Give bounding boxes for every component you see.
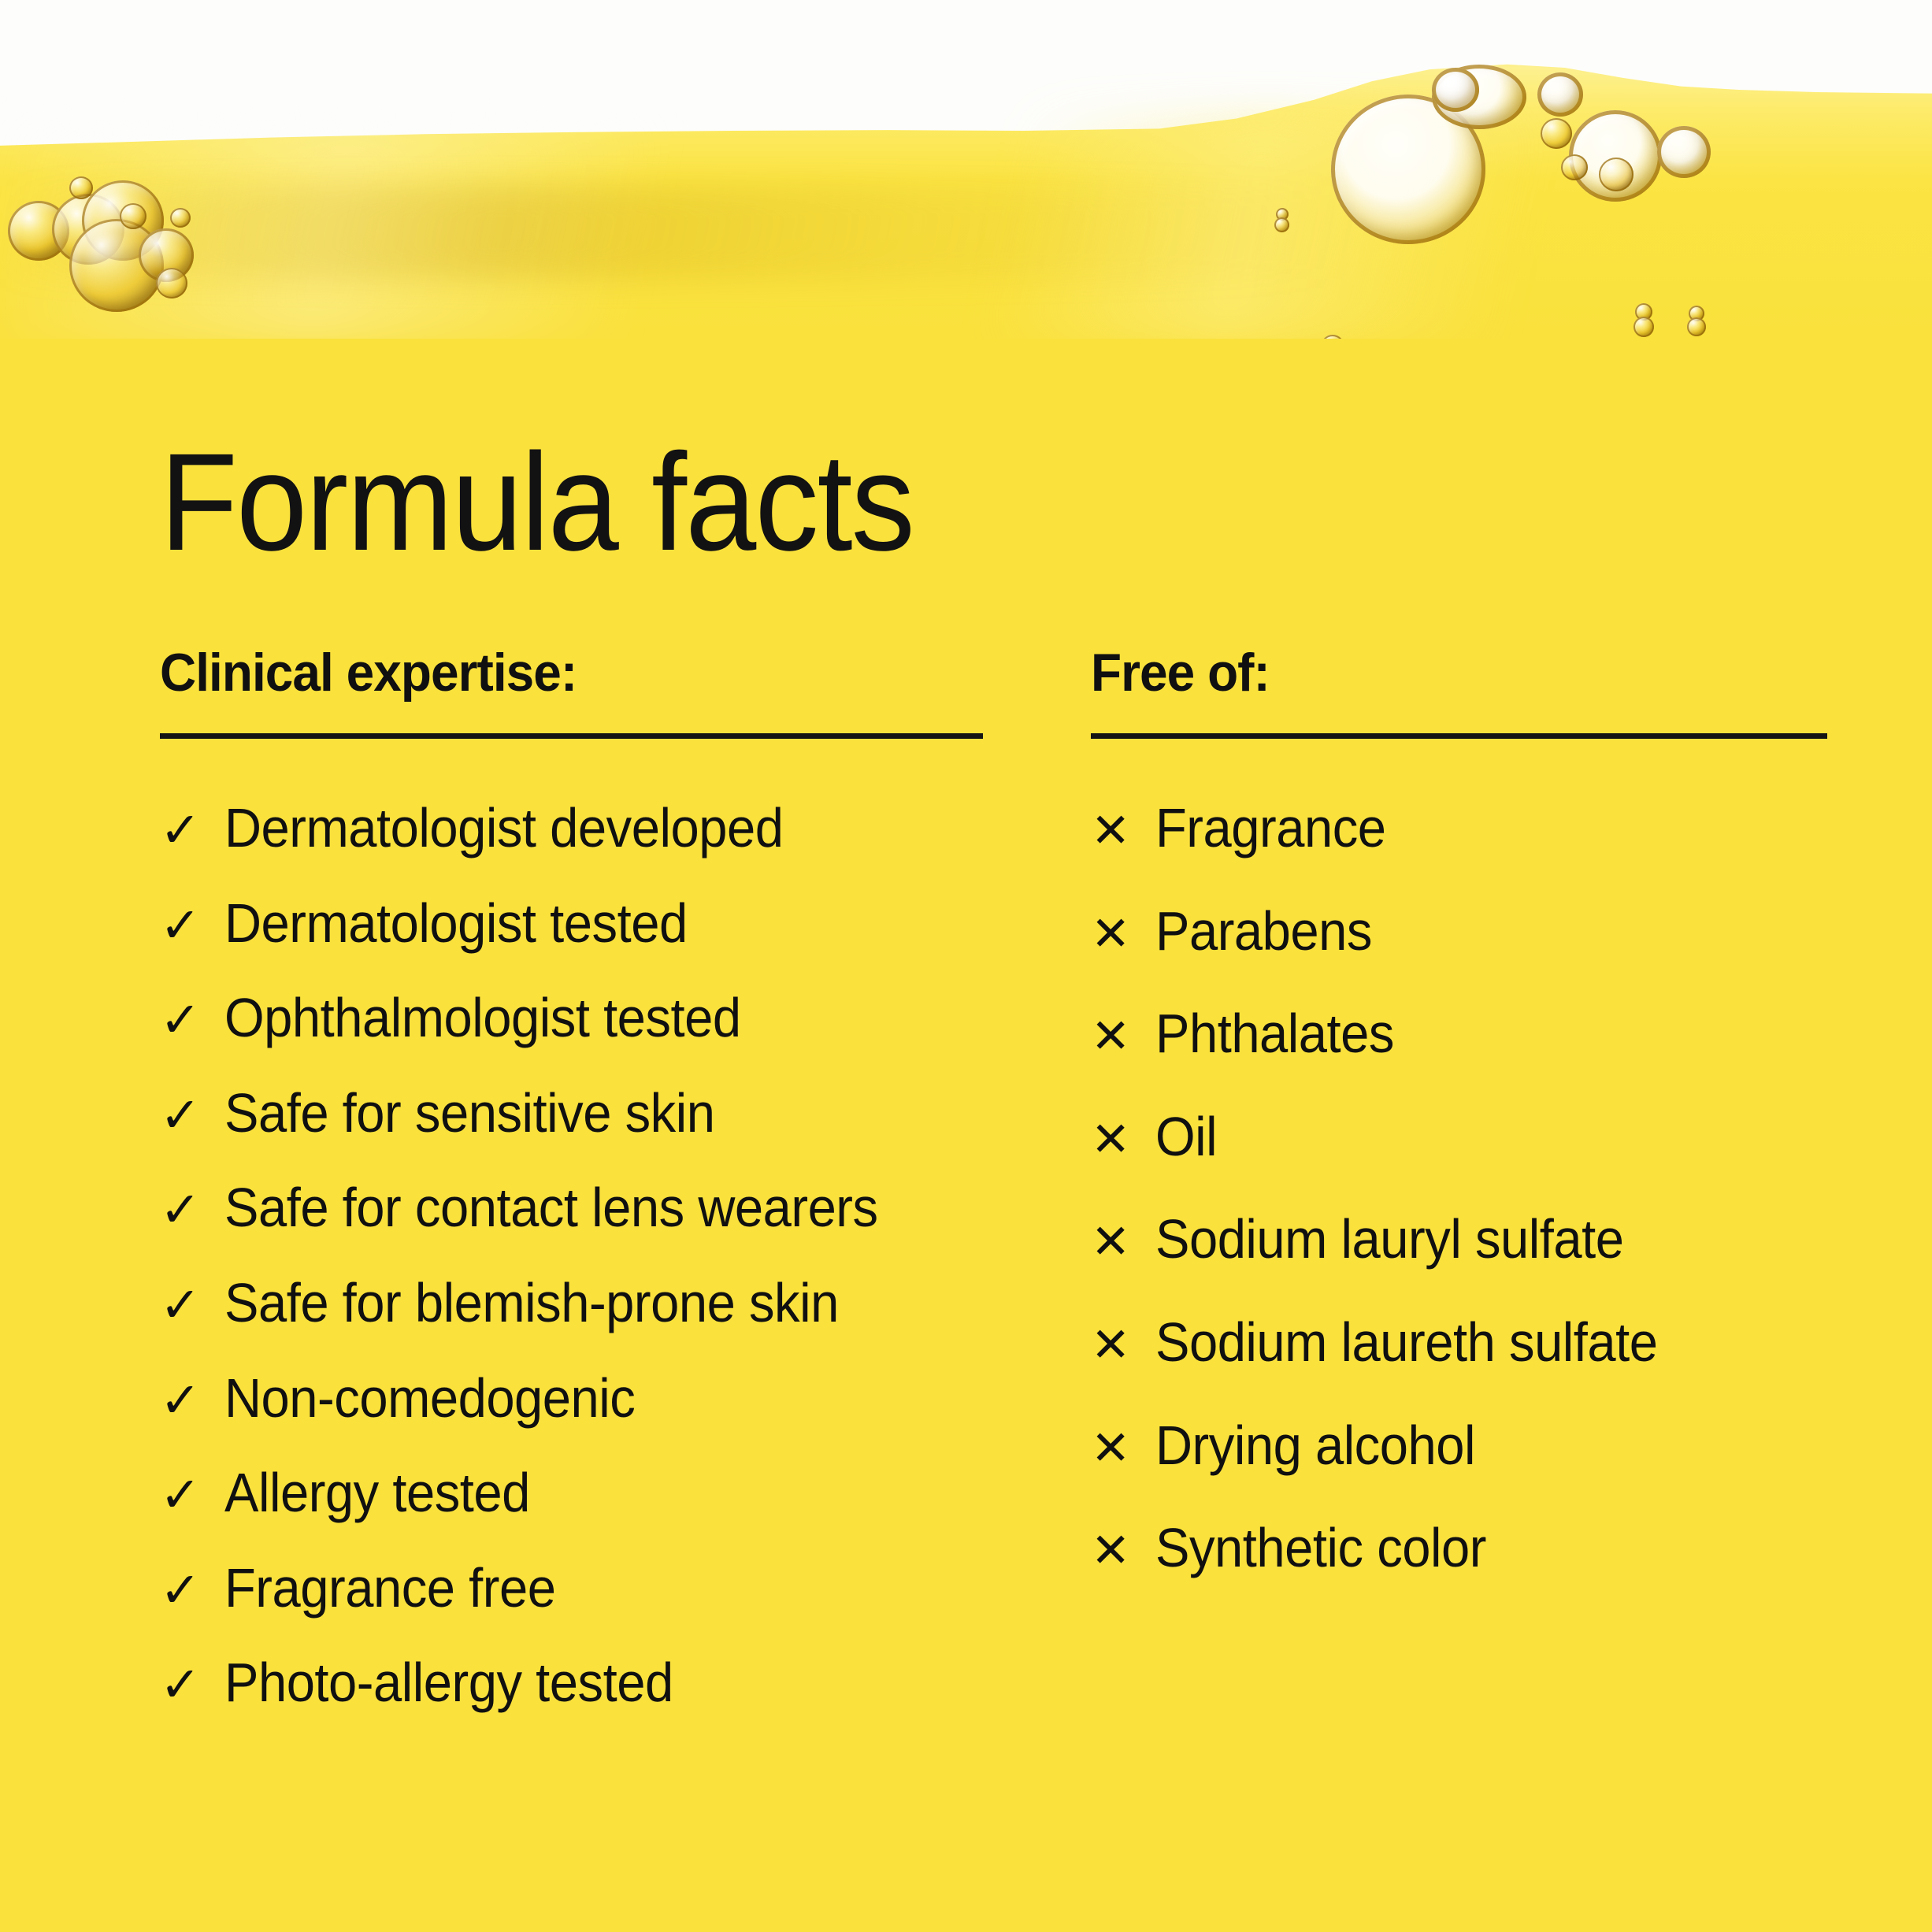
- cross-icon: ✕: [1091, 907, 1155, 962]
- list-item-label: Oil: [1155, 1104, 1217, 1170]
- clinical-expertise-list: ✓ Dermatologist developed ✓ Dermatologis…: [160, 795, 983, 1715]
- oil-bubble: [170, 208, 191, 228]
- list-item: ✓ Safe for sensitive skin: [160, 1081, 983, 1146]
- check-icon: ✓: [160, 897, 224, 955]
- list-item: ✓ Ophthalmologist tested: [160, 985, 983, 1051]
- cross-icon: ✕: [1091, 803, 1155, 859]
- cross-icon: ✕: [1091, 1421, 1155, 1477]
- list-item: ✕ Phthalates: [1091, 1001, 1831, 1066]
- list-item: ✕ Parabens: [1091, 899, 1831, 964]
- check-icon: ✓: [160, 1562, 224, 1619]
- list-item-label: Dermatologist developed: [224, 795, 783, 861]
- list-item: ✓ Safe for blemish-prone skin: [160, 1270, 983, 1336]
- check-icon: ✓: [160, 1277, 224, 1334]
- list-item-label: Photo-allergy tested: [224, 1650, 673, 1715]
- list-item: ✓ Fragrance free: [160, 1556, 983, 1621]
- oil-droplet: [1274, 217, 1289, 232]
- list-item: ✕ Sodium lauryl sulfate: [1091, 1207, 1831, 1272]
- list-item-label: Sodium laureth sulfate: [1155, 1310, 1658, 1375]
- formula-facts-card: Formula facts Clinical expertise: ✓ Derm…: [0, 0, 1932, 1932]
- check-icon: ✓: [160, 1087, 224, 1144]
- list-item: ✓ Photo-allergy tested: [160, 1650, 983, 1715]
- list-item-label: Dermatologist tested: [224, 891, 688, 956]
- clinical-expertise-column: Clinical expertise: ✓ Dermatologist deve…: [160, 642, 983, 1745]
- cross-icon: ✕: [1091, 1009, 1155, 1065]
- cross-icon: ✕: [1091, 1318, 1155, 1374]
- oil-droplet: [1687, 317, 1706, 336]
- list-item-label: Non-comedogenic: [224, 1366, 635, 1431]
- list-item: ✓ Allergy tested: [160, 1460, 983, 1526]
- oil-bubble: [1599, 158, 1633, 191]
- list-item-label: Safe for blemish-prone skin: [224, 1270, 839, 1336]
- oil-bubble: [1561, 154, 1588, 180]
- list-item-label: Fragrance free: [224, 1556, 555, 1621]
- oil-bubble: [1657, 126, 1711, 178]
- oil-droplet: [1633, 317, 1654, 337]
- oil-bubble: [1541, 118, 1572, 149]
- list-item-label: Safe for contact lens wearers: [224, 1175, 878, 1240]
- oil-bubble: [69, 176, 93, 199]
- formula-facts-content: Formula facts Clinical expertise: ✓ Derm…: [0, 339, 1932, 1932]
- clinical-expertise-divider: [160, 733, 983, 739]
- list-item-label: Synthetic color: [1155, 1515, 1486, 1581]
- list-item-label: Phthalates: [1155, 1001, 1394, 1066]
- list-item-label: Safe for sensitive skin: [224, 1081, 715, 1146]
- list-item: ✓ Non-comedogenic: [160, 1366, 983, 1431]
- list-item-label: Fragrance: [1155, 795, 1386, 861]
- oil-bubble: [1537, 72, 1583, 117]
- list-item: ✕ Oil: [1091, 1104, 1831, 1170]
- oil-bubble: [1432, 68, 1479, 112]
- check-icon: ✓: [160, 1467, 224, 1524]
- check-icon: ✓: [160, 992, 224, 1049]
- cross-icon: ✕: [1091, 1523, 1155, 1579]
- check-icon: ✓: [160, 802, 224, 859]
- clinical-expertise-heading: Clinical expertise:: [160, 642, 933, 703]
- free-of-heading: Free of:: [1091, 642, 1787, 703]
- check-icon: ✓: [160, 1656, 224, 1714]
- list-item: ✓ Dermatologist tested: [160, 891, 983, 956]
- list-item-label: Drying alcohol: [1155, 1413, 1475, 1478]
- check-icon: ✓: [160, 1372, 224, 1430]
- list-item: ✕ Fragrance: [1091, 795, 1831, 861]
- cross-icon: ✕: [1091, 1112, 1155, 1168]
- page-title: Formula facts: [160, 433, 914, 572]
- free-of-list: ✕ Fragrance ✕ Parabens ✕ Phthalates ✕ Oi…: [1091, 795, 1831, 1581]
- list-item-label: Parabens: [1155, 899, 1372, 964]
- check-icon: ✓: [160, 1181, 224, 1239]
- oil-bubble: [156, 268, 187, 299]
- list-item: ✕ Sodium laureth sulfate: [1091, 1310, 1831, 1375]
- oil-bubble: [120, 203, 146, 229]
- list-item: ✓ Safe for contact lens wearers: [160, 1175, 983, 1240]
- list-item: ✕ Drying alcohol: [1091, 1413, 1831, 1478]
- list-item-label: Allergy tested: [224, 1460, 530, 1526]
- list-item-label: Ophthalmologist tested: [224, 985, 741, 1051]
- list-item-label: Sodium lauryl sulfate: [1155, 1207, 1624, 1272]
- list-item: ✕ Synthetic color: [1091, 1515, 1831, 1581]
- oil-liquid-surface-photo: [0, 0, 1932, 339]
- cross-icon: ✕: [1091, 1214, 1155, 1270]
- free-of-divider: [1091, 733, 1827, 739]
- free-of-column: Free of: ✕ Fragrance ✕ Parabens ✕ Phthal…: [1091, 642, 1831, 1619]
- list-item: ✓ Dermatologist developed: [160, 795, 983, 861]
